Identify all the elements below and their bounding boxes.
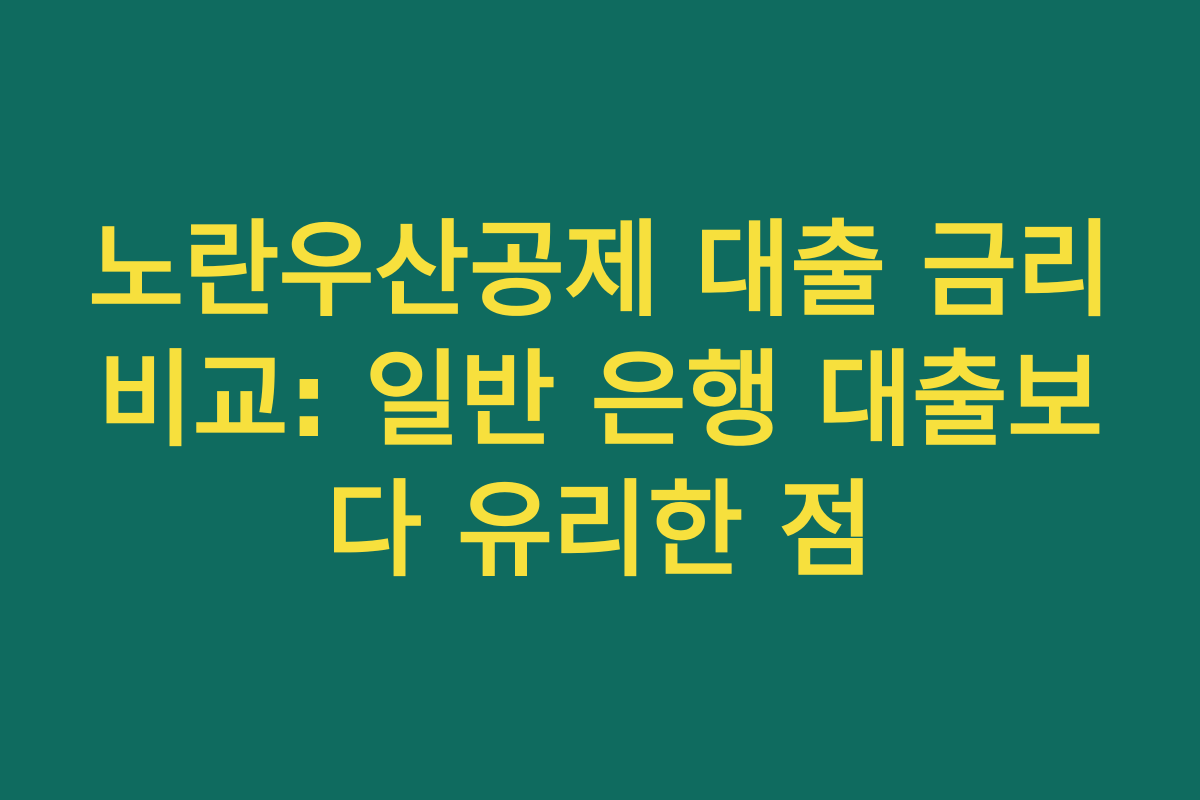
page-title: 노란우산공제 대출 금리 비교: 일반 은행 대출보 다 유리한 점 bbox=[70, 205, 1130, 595]
title-line-1: 노란우산공제 대출 금리 bbox=[80, 205, 1120, 335]
title-card: 노란우산공제 대출 금리 비교: 일반 은행 대출보 다 유리한 점 bbox=[0, 0, 1200, 800]
title-line-2: 비교: 일반 은행 대출보 bbox=[80, 335, 1120, 465]
title-line-3: 다 유리한 점 bbox=[80, 465, 1120, 595]
